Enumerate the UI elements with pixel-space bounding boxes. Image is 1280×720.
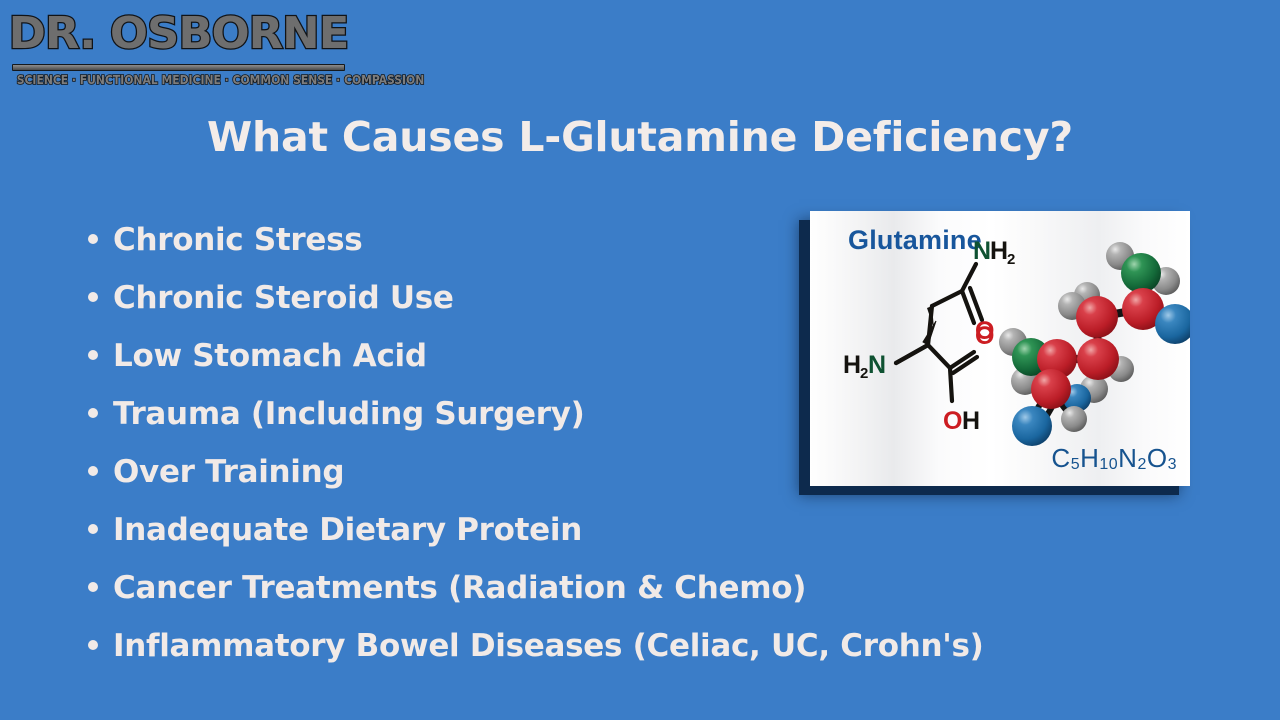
logo-wordmark: DR. OSBORNE [7,6,351,62]
atom-hydrogen [1061,406,1087,432]
brand-logo: DR. OSBORNE SCIENCE · FUNCTIONAL MEDICIN… [10,10,347,87]
formula-symbol-h: H [1080,443,1099,473]
logo-divider-rule [12,64,345,71]
list-item-label: Chronic Steroid Use [113,280,454,316]
slide-canvas: DR. OSBORNE SCIENCE · FUNCTIONAL MEDICIN… [0,0,1280,720]
bullet-dot-icon [88,466,98,476]
formula-symbol-c: C [1051,443,1070,473]
list-item-label: Low Stomach Acid [113,338,427,374]
list-item: Inadequate Dietary Protein [88,501,1198,559]
molecular-formula-label: C5H10N2O3 [1051,443,1177,474]
formula-count-n: 2 [1137,456,1146,473]
atom-carbon [1031,369,1071,409]
list-item-label: Over Training [113,454,344,490]
bullet-dot-icon [88,582,98,592]
bullet-dot-icon [88,234,98,244]
atom-oxygen [1012,406,1052,446]
bullet-dot-icon [88,640,98,650]
bullet-dot-icon [88,408,98,418]
formula-symbol-o: O [1147,443,1168,473]
page-title: What Causes L-Glutamine Deficiency? [0,110,1280,164]
list-item-label: Inflammatory Bowel Diseases (Celiac, UC,… [113,628,983,664]
formula-count-o: 3 [1168,456,1177,473]
model-atoms [999,242,1190,446]
formula-count-h: 10 [1099,456,1118,473]
list-item-label: Inadequate Dietary Protein [113,512,582,548]
bullet-dot-icon [88,350,98,360]
formula-count-c: 5 [1071,456,1080,473]
bullet-dot-icon [88,292,98,302]
list-item-label: Chronic Stress [113,222,362,258]
list-item: Cancer Treatments (Radiation & Chemo) [88,559,1198,617]
glutamine-molecule-image: Glutamine [810,211,1190,486]
logo-tagline: SCIENCE · FUNCTIONAL MEDICINE · COMMON S… [17,72,341,87]
list-item-label: Trauma (Including Surgery) [113,396,585,432]
atom-carbon [1076,296,1118,338]
list-item-label: Cancer Treatments (Radiation & Chemo) [113,570,806,606]
list-item: Inflammatory Bowel Diseases (Celiac, UC,… [88,617,1198,675]
atom-nitrogen [1121,253,1161,293]
bullet-dot-icon [88,524,98,534]
atom-carbon [1077,338,1119,380]
formula-symbol-n: N [1118,443,1137,473]
